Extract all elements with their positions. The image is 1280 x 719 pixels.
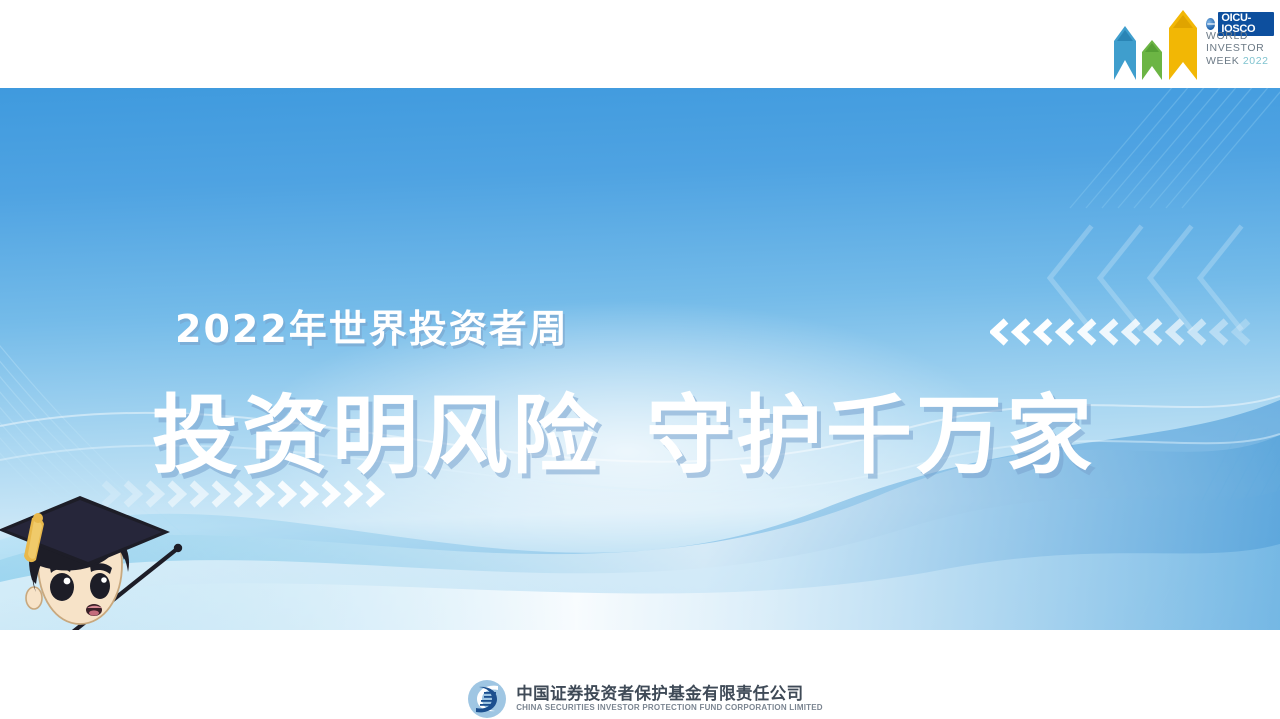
org-name-cn: 中国证券投资者保护基金有限责任公司 <box>516 685 823 703</box>
slide-banner: OICU-IOSCO WORLD INVESTOR WEEK 2022 <box>0 0 1280 719</box>
sipf-logo: 中国证券投资者保护基金有限责任公司 CHINA SECURITIES INVES… <box>467 679 823 719</box>
pencil-group-icon <box>1112 8 1204 80</box>
top-white-strip: OICU-IOSCO WORLD INVESTOR WEEK 2022 <box>0 0 1280 88</box>
wiw-line-world: WORLD <box>1206 30 1269 42</box>
sipf-text-block: 中国证券投资者保护基金有限责任公司 CHINA SECURITIES INVES… <box>516 685 823 713</box>
globe-icon <box>1206 18 1215 30</box>
headline-part-1: 投资明风险 <box>152 386 602 486</box>
wiw-text-block: WORLD INVESTOR WEEK 2022 <box>1206 30 1269 67</box>
pencil-yellow-icon <box>1169 10 1197 80</box>
banner-subtitle: 2022年世界投资者周 <box>175 298 569 353</box>
wiw-line-investor: INVESTOR <box>1206 42 1269 54</box>
wiw-year-label: 2022 <box>1243 55 1269 67</box>
wiw-week-label: WEEK <box>1206 55 1239 67</box>
sipf-mark-icon <box>467 679 507 719</box>
pencils-svg <box>1112 8 1204 80</box>
world-investor-week-logo: OICU-IOSCO WORLD INVESTOR WEEK 2022 <box>1106 4 1274 86</box>
banner-headline: 投资明风险守护千万家 <box>152 365 1096 490</box>
org-name-en: CHINA SECURITIES INVESTOR PROTECTION FUN… <box>516 704 823 713</box>
chevrons-left-svg <box>990 318 1260 346</box>
headline-part-2: 守护千万家 <box>646 386 1096 486</box>
right-top-line-texture <box>1060 88 1280 318</box>
pencil-blue-icon <box>1114 26 1136 80</box>
wiw-line-week: WEEK 2022 <box>1206 55 1269 67</box>
main-banner: 2022年世界投资者周 投资明风险守护千万家 <box>0 88 1280 630</box>
chevron-row-right <box>990 318 1260 346</box>
footer-area: 中国证券投资者保护基金有限责任公司 CHINA SECURITIES INVES… <box>0 630 1280 719</box>
pencil-green-icon <box>1142 40 1162 80</box>
